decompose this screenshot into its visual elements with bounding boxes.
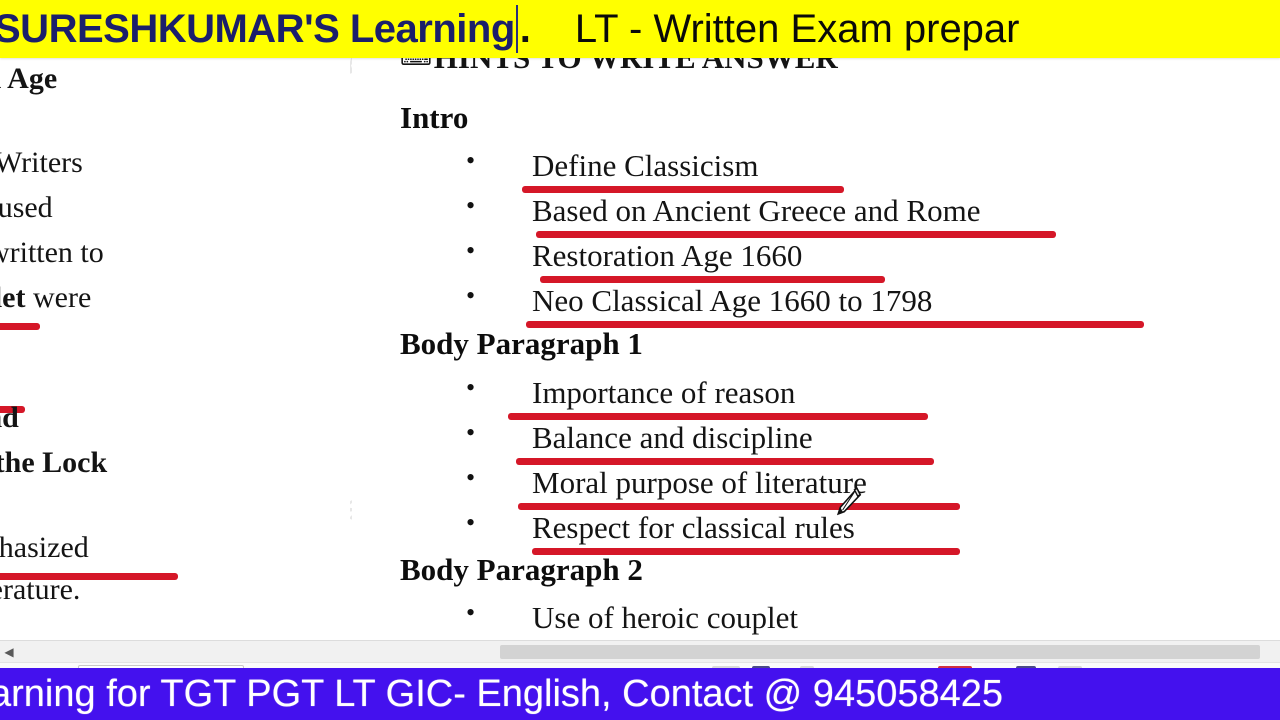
left-page-line: ure was written to xyxy=(0,238,104,268)
bullet-text: Importance of reason xyxy=(532,377,795,408)
red-underline xyxy=(540,276,885,283)
list-item: Importance of reason xyxy=(400,377,795,408)
left-page-line: oic couplet were xyxy=(0,283,91,313)
brand-title: SURESHKUMAR'S Learning xyxy=(0,7,515,52)
red-underline xyxy=(508,413,928,420)
bottom-marquee-banner: arning for TGT PGT LT GIC- English, Cont… xyxy=(0,668,1280,720)
left-page-line: hich emphasized xyxy=(0,533,89,563)
document-page-right: ⌨HINTS TO WRITE ANSWER Intro Define Clas… xyxy=(352,0,1280,640)
text-caret xyxy=(516,5,518,53)
document-viewer[interactable]: SURESHKUMAR'S SURESHKUMAR'S SURESHKUMAR'… xyxy=(0,0,1280,640)
section-heading-body-1: Body Paragraph 1 xyxy=(400,326,643,362)
red-underline xyxy=(516,458,934,465)
bullet-text: Define Classicism xyxy=(532,150,758,181)
marquee-text: arning for TGT PGT LT GIC- English, Cont… xyxy=(0,673,1003,716)
document-page-left: Classical Age balance. Writers re. They … xyxy=(0,0,350,640)
list-item: Based on Ancient Greece and Rome xyxy=(400,195,981,226)
bullet-text: Balance and discipline xyxy=(532,422,813,453)
left-line-bold: oic couplet xyxy=(0,281,25,314)
bullet-text: Use of heroic couplet xyxy=(532,602,798,633)
list-item: Restoration Age 1660 xyxy=(400,240,802,271)
left-line-bold: Rape of the Lock xyxy=(0,446,107,479)
section-heading-intro: Intro xyxy=(400,100,468,136)
list-item: Neo Classical Age 1660 to 1798 xyxy=(400,285,932,316)
list-item: Define Classicism xyxy=(400,150,758,181)
left-page-line: balance. Writers xyxy=(0,148,83,178)
red-underline xyxy=(0,323,40,330)
left-line-text: hich emphasized xyxy=(0,531,89,564)
red-underline xyxy=(536,231,1056,238)
red-underline xyxy=(518,503,960,510)
scrollbar-thumb[interactable] xyxy=(500,645,1260,659)
banner-subtitle: LT - Written Exam prepar xyxy=(575,7,1020,52)
left-line-bold: salom and xyxy=(0,401,19,434)
left-line-text: balance. Writers xyxy=(0,146,83,179)
left-page-line: Rape of the Lock xyxy=(0,448,107,478)
brand-title-suffix: . xyxy=(520,7,531,52)
bullet-text: Respect for classical rules xyxy=(532,512,855,543)
red-underline xyxy=(522,186,844,193)
horizontal-scrollbar[interactable]: ◀ xyxy=(0,640,1280,663)
left-line-text: were xyxy=(25,281,91,314)
top-title-banner: SURESHKUMAR'S Learning. LT - Written Exa… xyxy=(0,0,1280,58)
list-item: Use of heroic couplet xyxy=(400,602,798,633)
left-page-line: re. They used xyxy=(0,193,53,223)
left-page-heading: Classical Age xyxy=(0,62,57,96)
bullet-text: Restoration Age 1660 xyxy=(532,240,802,271)
bullet-text: Based on Ancient Greece and Rome xyxy=(532,195,981,226)
left-page-line: salom and xyxy=(0,403,19,433)
list-item: Balance and discipline xyxy=(400,422,813,453)
left-line-text: ure was written to xyxy=(0,236,104,269)
bullet-text: Moral purpose of literature xyxy=(532,467,867,498)
section-heading-body-2: Body Paragraph 2 xyxy=(400,552,643,588)
left-line-text: ght in literature. xyxy=(0,573,80,606)
left-line-text: . They used xyxy=(0,191,53,224)
list-item: Moral purpose of literature xyxy=(400,467,867,498)
bullet-text: Neo Classical Age 1660 to 1798 xyxy=(532,285,932,316)
scroll-left-arrow-icon[interactable]: ◀ xyxy=(1,644,17,660)
screen-recording-frame: SURESHKUMAR'S SURESHKUMAR'S SURESHKUMAR'… xyxy=(0,0,1280,720)
list-item: Respect for classical rules xyxy=(400,512,855,543)
left-page-line: ght in literature. xyxy=(0,575,80,605)
